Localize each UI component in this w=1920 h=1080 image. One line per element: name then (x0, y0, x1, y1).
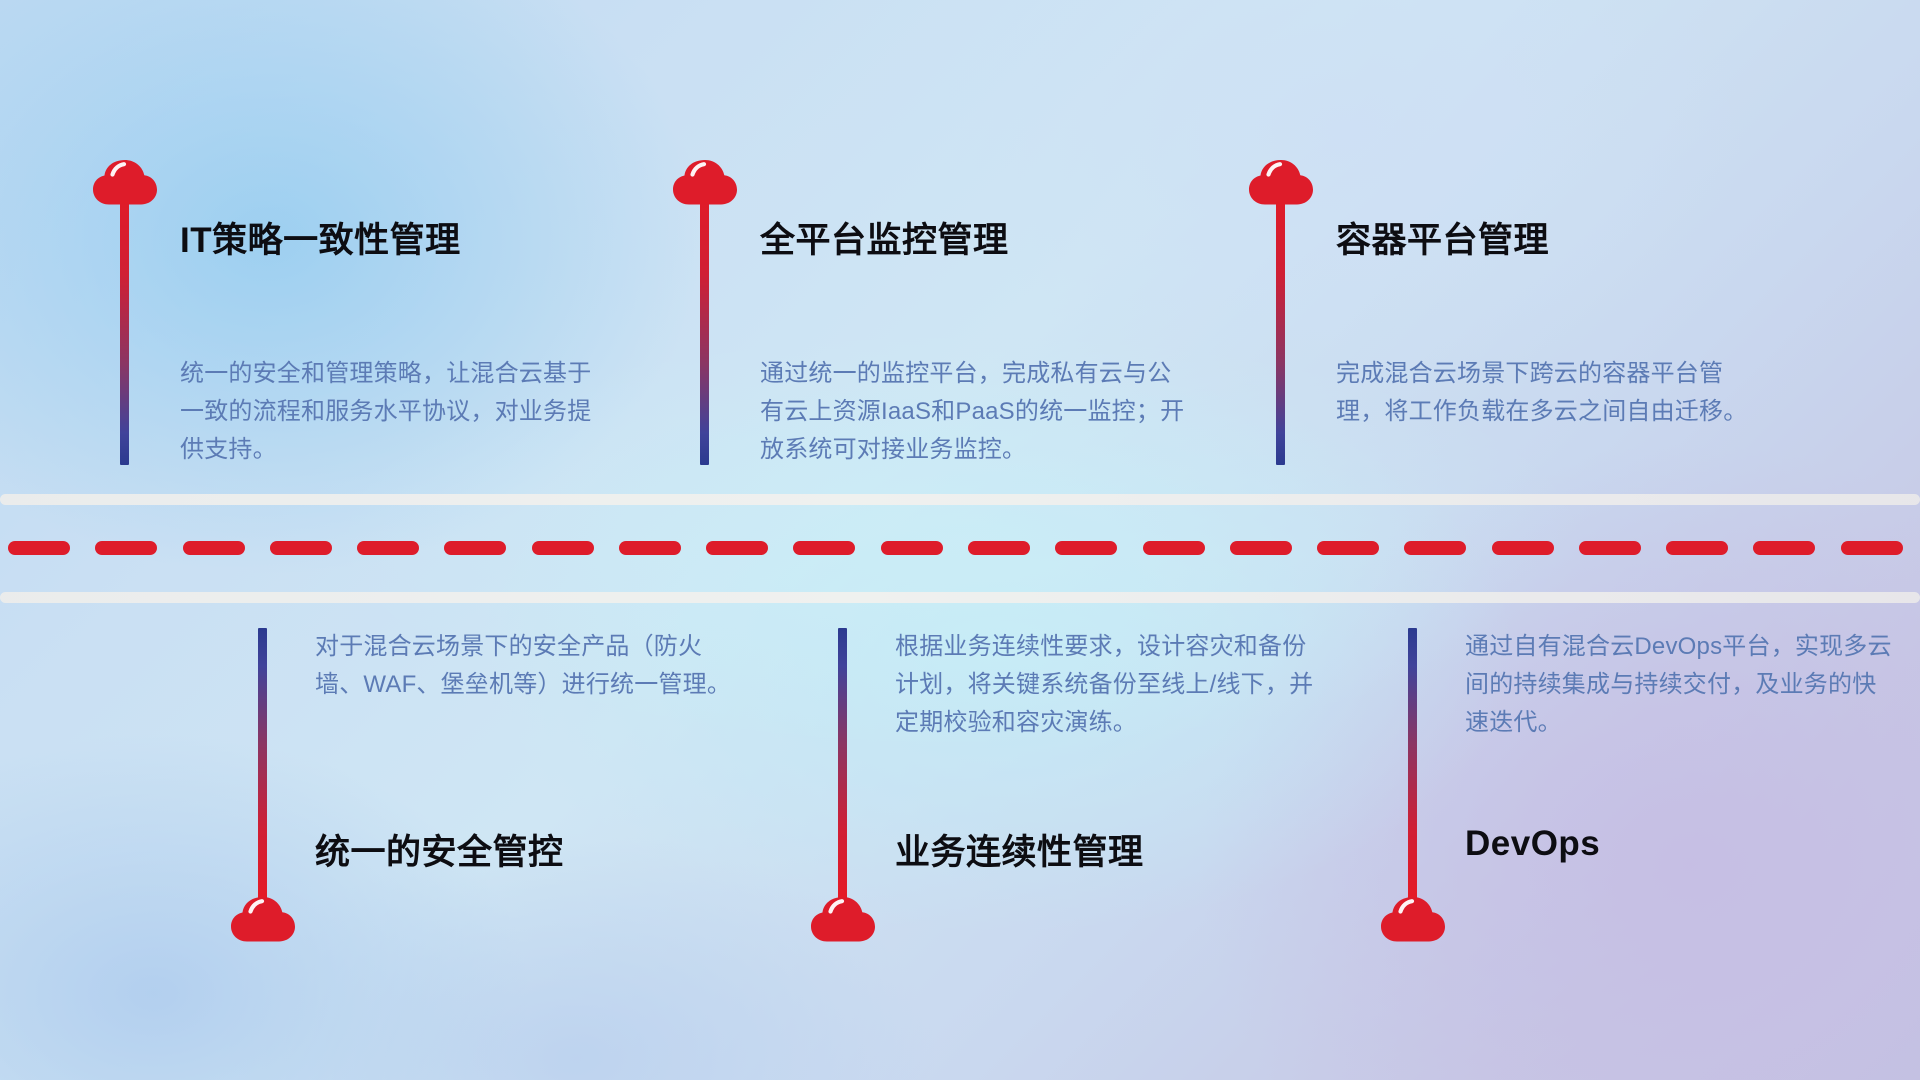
pin-line (838, 628, 847, 900)
top-body-1: 统一的安全和管理策略，让混合云基于一致的流程和服务水平协议，对业务提供支持。 (180, 355, 610, 469)
cloud-icon (1380, 895, 1446, 945)
road-dash-segment (1055, 541, 1117, 555)
road-dashed-centerline (0, 541, 1920, 555)
pin-line (1276, 200, 1285, 465)
road-dash-segment (1753, 541, 1815, 555)
top-heading-2: 全平台监控管理 (760, 212, 1009, 263)
bottom-body-3: 通过自有混合云DevOps平台，实现多云间的持续集成与持续交付，及业务的快速迭代… (1465, 628, 1895, 742)
road-line-bottom (0, 592, 1920, 603)
pin-line (258, 628, 267, 900)
cloud-icon (810, 895, 876, 945)
road-line-top (0, 494, 1920, 505)
top-heading-3: 容器平台管理 (1336, 212, 1549, 263)
bottom-heading-2: 业务连续性管理 (895, 824, 1144, 875)
infographic-board: IT策略一致性管理 统一的安全和管理策略，让混合云基于一致的流程和服务水平协议，… (0, 0, 1920, 1080)
road-dash-segment (1143, 541, 1205, 555)
road-dash-segment (968, 541, 1030, 555)
pin-line (120, 200, 129, 465)
road-dash-segment (95, 541, 157, 555)
road-dash-segment (1492, 541, 1554, 555)
road-dash-segment (793, 541, 855, 555)
road-dash-segment (1404, 541, 1466, 555)
road-dash-segment (1317, 541, 1379, 555)
top-heading-1: IT策略一致性管理 (180, 212, 461, 263)
cloud-icon (230, 895, 296, 945)
road-dash-segment (1666, 541, 1728, 555)
road-dash-segment (532, 541, 594, 555)
pin-line (700, 200, 709, 465)
bottom-heading-1: 统一的安全管控 (315, 824, 564, 875)
road-dash-segment (1230, 541, 1292, 555)
top-body-3: 完成混合云场景下跨云的容器平台管理，将工作负载在多云之间自由迁移。 (1336, 355, 1766, 431)
road-dash-segment (881, 541, 943, 555)
road-dash-segment (8, 541, 70, 555)
road-dash-segment (444, 541, 506, 555)
road-dash-segment (619, 541, 681, 555)
road-dash-segment (270, 541, 332, 555)
pin-line (1408, 628, 1417, 900)
road-dash-segment (1841, 541, 1903, 555)
bottom-heading-3: DevOps (1465, 824, 1600, 864)
bottom-body-1: 对于混合云场景下的安全产品（防火墙、WAF、堡垒机等）进行统一管理。 (315, 628, 745, 704)
road-dash-segment (706, 541, 768, 555)
road-dash-segment (1579, 541, 1641, 555)
road-dash-segment (183, 541, 245, 555)
road-dash-segment (357, 541, 419, 555)
bottom-body-2: 根据业务连续性要求，设计容灾和备份计划，将关键系统备份至线上/线下，并定期校验和… (895, 628, 1325, 742)
top-body-2: 通过统一的监控平台，完成私有云与公有云上资源IaaS和PaaS的统一监控；开放系… (760, 355, 1190, 469)
